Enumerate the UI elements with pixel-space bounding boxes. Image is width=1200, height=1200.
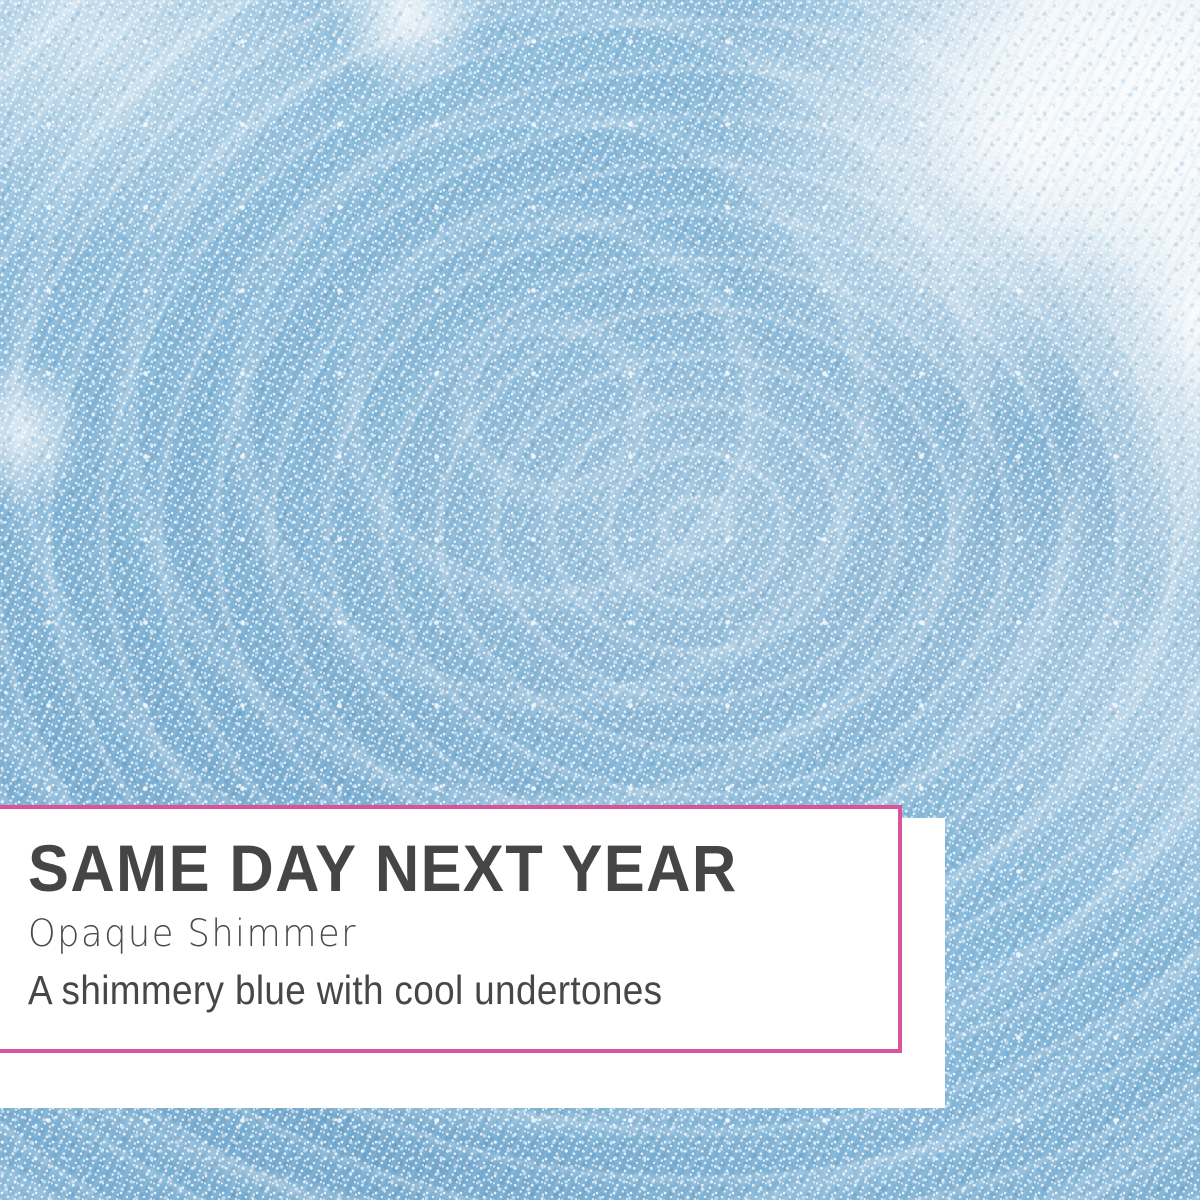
card-text-block: SAME DAY NEXT YEAR Opaque Shimmer A shim… [28, 835, 878, 1011]
card-outlined-panel: SAME DAY NEXT YEAR Opaque Shimmer A shim… [0, 805, 902, 1053]
swatch-card-canvas: SAME DAY NEXT YEAR Opaque Shimmer A shim… [0, 0, 1200, 1200]
product-description: A shimmery blue with cool undertones [28, 970, 793, 1011]
page-title: SAME DAY NEXT YEAR [28, 835, 819, 901]
product-finish-label: Opaque Shimmer [28, 915, 836, 952]
